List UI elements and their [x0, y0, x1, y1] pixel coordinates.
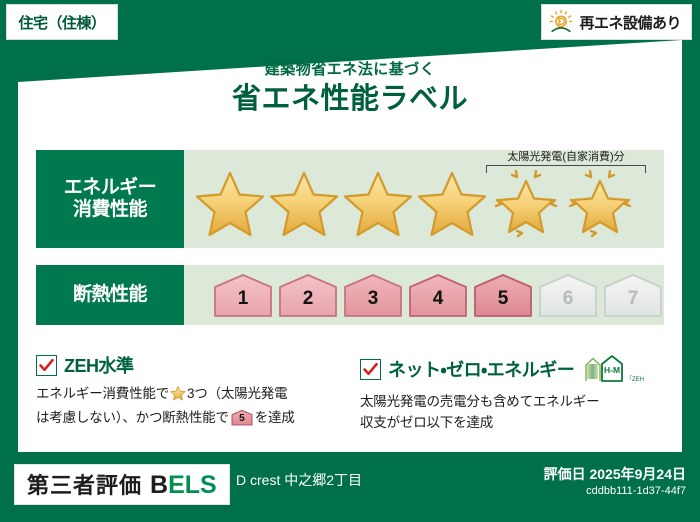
inline-insulation-badge-value: 5 — [231, 409, 253, 426]
insulation-badge-6-value: 6 — [537, 272, 599, 318]
insulation-badge-6: 6 — [537, 272, 599, 318]
insulation-badge-3: 3 — [342, 272, 404, 318]
star-icon-4 — [416, 166, 488, 240]
star-icon-3 — [342, 166, 414, 240]
feature-net-zero-energy-title: ネット・ゼロ・エネルギー — [388, 356, 574, 382]
property-name: D crest 中之郷2丁目 — [236, 470, 362, 490]
feature-zeh-standard: ZEH水準 エネルギー消費性能で 3つ（太陽光発電 は考慮しない）、かつ断熱性能… — [36, 352, 336, 433]
insulation-badge-5-value: 5 — [472, 272, 534, 318]
evaluation-id: cddbb111-1d37-44f7 — [586, 485, 686, 497]
insulation-badge-3-value: 3 — [342, 272, 404, 318]
inline-insulation-badge-icon: 5 — [231, 409, 253, 433]
nze-body-line2: 収支がゼロ以下を達成 — [360, 413, 670, 434]
bels-certification-mark: 第三者評価 BELS — [14, 464, 230, 505]
nze-body-line1: 太陽光発電の売電分も含めてエネルギー — [360, 392, 670, 413]
check-icon — [36, 355, 57, 376]
label-title-block: 建築物省エネ法に基づく 省エネ性能ラベル — [0, 62, 700, 115]
insulation-badge-7: 7 — [602, 272, 664, 318]
energy-label-line1: エネルギー — [64, 177, 157, 199]
renewable-energy-badge: 再エネ設備あり — [541, 4, 692, 40]
energy-label-line2: 消費性能 — [73, 199, 147, 221]
bels-third-party-label: 第三者評価 — [27, 468, 142, 500]
bels-wordmark-b: B — [150, 471, 168, 499]
label-footer: 第三者評価 BELS D crest 中之郷2丁目 評価日 2025年9月24日… — [0, 456, 700, 522]
check-icon — [360, 359, 381, 380]
bels-wordmark: BELS — [150, 471, 217, 500]
building-type-tag-label: 住宅（住棟） — [18, 12, 105, 33]
zeh-m-logo-icon: H-M 「ZEH-M」 — [582, 352, 644, 386]
zeh-body-star-suffix: 3つ（太陽光発電 — [187, 386, 287, 401]
solar-sun-icon — [548, 9, 574, 35]
zeh-body-part2: は考慮しない）、かつ断熱性能で — [36, 410, 229, 425]
renewable-energy-badge-label: 再エネ設備あり — [579, 12, 681, 33]
feature-zeh-standard-title: ZEH水準 — [64, 352, 134, 378]
evaluation-date: 評価日 2025年9月24日 — [544, 464, 686, 484]
solar-self-consumption-annotation: 太陽光発電(自家消費)分 — [486, 152, 646, 173]
energy-performance-label: 住宅（住棟） 再エネ設備あり 建築物省 — [0, 0, 700, 522]
star-icon-5-solar — [490, 166, 562, 240]
feature-zeh-standard-header: ZEH水準 — [36, 352, 336, 378]
energy-performance-row-label: エネルギー 消費性能 — [36, 150, 184, 248]
insulation-badge-5: 5 — [472, 272, 534, 318]
insulation-badge-2: 2 — [277, 272, 339, 318]
insulation-badge-4: 4 — [407, 272, 469, 318]
inline-star-icon — [170, 389, 186, 404]
insulation-performance-row: 断熱性能 — [36, 265, 664, 325]
label-subtitle: 建築物省エネ法に基づく — [0, 62, 700, 79]
zeh-body-part1: エネルギー消費性能で — [36, 386, 169, 401]
insulation-badge-1-value: 1 — [212, 272, 274, 318]
svg-text:H-M: H-M — [604, 365, 620, 375]
solar-self-consumption-label: 太陽光発電(自家消費)分 — [486, 152, 646, 163]
building-type-tag: 住宅（住棟） — [6, 4, 118, 40]
bels-wordmark-els: ELS — [168, 471, 217, 499]
svg-text:「ZEH-M」: 「ZEH-M」 — [626, 376, 644, 383]
insulation-performance-row-label: 断熱性能 — [36, 265, 184, 325]
insulation-badge-2-value: 2 — [277, 272, 339, 318]
energy-performance-row: エネルギー 消費性能 太陽光発電(自家消費)分 — [36, 150, 664, 248]
label-main-title: 省エネ性能ラベル — [0, 84, 700, 116]
insulation-badges-area: 1 2 3 4 — [184, 265, 664, 325]
feature-net-zero-energy-body: 太陽光発電の売電分も含めてエネルギー 収支がゼロ以下を達成 — [360, 392, 670, 434]
solar-bracket-icon — [486, 165, 646, 173]
feature-net-zero-energy-header: ネット・ゼロ・エネルギー H-M 「ZEH-M」 — [360, 352, 670, 386]
feature-net-zero-energy: ネット・ゼロ・エネルギー H-M 「ZEH-M」 — [360, 352, 670, 434]
insulation-badge-4-value: 4 — [407, 272, 469, 318]
star-icon-6-solar — [564, 166, 636, 240]
insulation-badge-7-value: 7 — [602, 272, 664, 318]
feature-zeh-standard-body: エネルギー消費性能で 3つ（太陽光発電 は考慮しない）、かつ断熱性能で 5を達成 — [36, 384, 336, 433]
insulation-badge-1: 1 — [212, 272, 274, 318]
star-icon-2 — [268, 166, 340, 240]
insulation-grade-scale: 1 2 3 4 — [212, 272, 664, 318]
zeh-body-part3: を達成 — [255, 410, 295, 425]
star-rating — [194, 166, 636, 240]
insulation-label: 断熱性能 — [73, 284, 147, 306]
energy-performance-stars-area: 太陽光発電(自家消費)分 — [184, 150, 664, 248]
star-icon-1 — [194, 166, 266, 240]
